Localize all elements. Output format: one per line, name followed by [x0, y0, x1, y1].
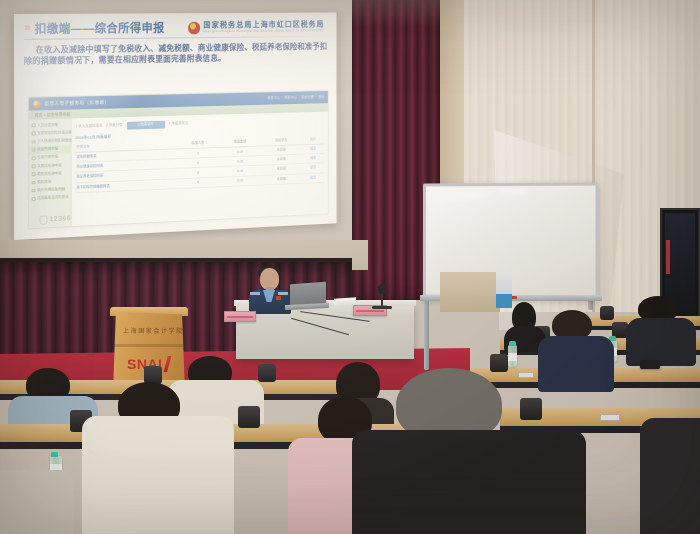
slide-title: 扣缴端——综合所得申报: [35, 21, 165, 36]
attendee: [82, 382, 222, 534]
name-card-left: [224, 311, 256, 322]
seat-back: [238, 406, 260, 428]
curtain-top-glow: [352, 0, 440, 26]
bottle-label: [508, 353, 517, 361]
cell-action[interactable]: 填写: [302, 172, 325, 182]
app-action-help[interactable]: 帮助中心: [284, 95, 297, 100]
seat-back: [258, 364, 276, 382]
step-income-deduction[interactable]: 1 收入及减除填写: [75, 124, 102, 130]
app-action-messages[interactable]: 消息中心: [267, 96, 280, 101]
attendee-torso: [0, 470, 74, 534]
app-action-exit[interactable]: 退出: [318, 95, 324, 100]
attendee-torso: [82, 416, 234, 534]
whiteboard-glare: [436, 191, 492, 201]
embedded-app-screenshot: 自然人电子税务局（扣缴端） 消息中心 帮助中心 系统设置 退出 首页 > 综合所…: [28, 90, 329, 229]
attendee-torso: [640, 418, 700, 534]
bottle-cap: [509, 341, 516, 346]
seat-label: [600, 414, 620, 421]
slide-content: ››› 扣缴端——综合所得申报 国家税务总局上海市虹口区税务局 Shanghai…: [14, 12, 336, 240]
slide-body: 在收入及减除中填写了免税收入、减免税额、商业健康保险、税延养老保险和准予扣除的捐…: [24, 41, 328, 66]
chart-icon: [32, 173, 36, 177]
attendee: [630, 296, 690, 364]
attendee: [640, 418, 700, 534]
sidebar-label: 税款缴纳: [37, 179, 51, 185]
sidebar-label: 专项附加扣除信息采集: [37, 130, 72, 136]
sidebar-label: 综合所得申报: [37, 147, 58, 153]
doc-icon: [32, 140, 36, 144]
monitor-accent: [666, 240, 670, 274]
sidebar-label: 个人所得税预扣预缴信息: [37, 138, 75, 144]
hotline-number: 12366: [49, 215, 71, 223]
app-main-panel: 1 收入及减除填写 2 税款计算 3 附表填写 4 申报表报送 2024年01月…: [72, 112, 328, 227]
sidebar-item-preferential-filing[interactable]: 优惠备案及资料报送: [29, 193, 71, 203]
list-icon: [32, 132, 36, 136]
cell-status: 未填报: [261, 173, 302, 184]
app-body: 人员信息采集 专项附加扣除信息采集 个人所得税预扣预缴信息 综合所得申: [29, 112, 328, 229]
projection-screen: ››› 扣缴端——综合所得申报 国家税务总局上海市虹口区税务局 Shanghai…: [14, 12, 338, 240]
wallet-icon: [32, 181, 36, 185]
app-logo-icon: [33, 100, 41, 108]
sidebar-label: 限售股所得申报: [37, 171, 61, 177]
step-tax-calculation[interactable]: 2 税款计算: [106, 123, 122, 128]
attachment-table: 附表名称 填报人数 填报金额 填报状态 操作 减免税额附表: [75, 136, 324, 193]
sidebar-label: 优惠备案及资料报送: [37, 195, 68, 201]
sidebar-label: 非居民所得申报: [37, 163, 61, 169]
slide-paragraph: 在收入及减除中填写了免税收入、减免税额、商业健康保险、税延养老保险和准予扣除的捐…: [24, 41, 328, 66]
attendee-torso: [626, 318, 696, 366]
phone-icon: [40, 215, 48, 224]
sidebar-label: 境外所得抵免明细: [37, 187, 65, 193]
cell-amount: 0.00: [219, 175, 261, 186]
form-icon: [32, 148, 36, 152]
bottle-cap: [51, 452, 58, 457]
smartphone[interactable]: [640, 360, 660, 369]
app-topbar-actions: 消息中心 帮助中心 系统设置 退出: [267, 95, 324, 101]
person-icon: [32, 124, 36, 128]
chevron-icon: ›››: [24, 22, 29, 35]
app-title: 自然人电子税务局（扣缴端）: [44, 99, 109, 106]
sidebar-label: 分类所得申报: [37, 155, 58, 161]
step-form-submission[interactable]: 4 申报表报送: [169, 121, 188, 126]
upload-icon: [32, 197, 36, 201]
presenter-epaulette: [278, 292, 288, 295]
table-icon: [32, 189, 36, 193]
side-cabinet: [440, 272, 500, 312]
step-attachment-filling[interactable]: 3 附表填写: [126, 121, 165, 130]
attendee: [0, 470, 66, 534]
app-action-settings[interactable]: 系统设置: [301, 95, 314, 100]
sidebar-label: 人员信息采集: [37, 122, 58, 128]
cell-people: 0: [177, 177, 219, 189]
globe-icon: [32, 164, 36, 168]
lecture-hall-photo: ››› 扣缴端——综合所得申报 国家税务总局上海市虹口区税务局 Shanghai…: [0, 0, 700, 534]
microphone-base: [372, 306, 392, 309]
title-divider: [24, 36, 328, 40]
tax-hotline-logo: 12366: [40, 214, 72, 224]
podium-venue-name: 上海国家会计学院: [123, 326, 184, 335]
app-breadcrumb: 首页 > 综合所得申报: [35, 111, 71, 118]
whiteboard-glare: [499, 189, 529, 195]
attendee-torso: [352, 430, 586, 534]
agency-logo-block: 国家税务总局上海市虹口区税务局 Shanghai Hongkou Municip…: [188, 20, 325, 34]
agency-text: 国家税务总局上海市虹口区税务局 Shanghai Hongkou Municip…: [203, 20, 324, 34]
water-bottle: [508, 345, 517, 367]
app-sidebar: 人员信息采集 专项附加扣除信息采集 个人所得税预扣预缴信息 综合所得申: [29, 118, 72, 228]
clock-icon: [32, 156, 36, 160]
presenter-epaulette: [250, 292, 260, 295]
national-emblem-icon: [188, 21, 200, 34]
agency-name-en: Shanghai Hongkou Municipal Tax Service, …: [203, 28, 324, 34]
presenter-badge: [276, 296, 281, 300]
attendee: [352, 368, 572, 534]
podium-divider: [113, 344, 185, 347]
